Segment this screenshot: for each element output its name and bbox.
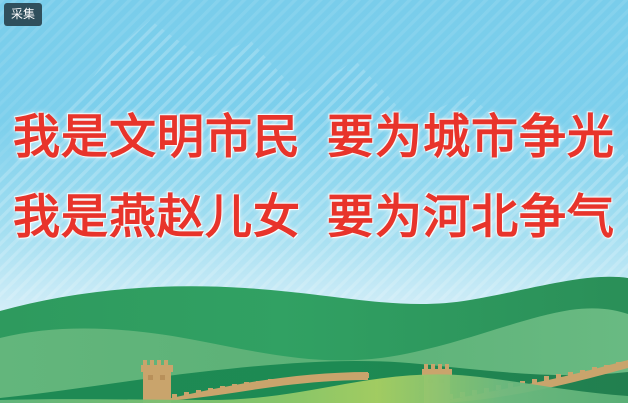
slogan-line-1: 我是文明市民要为城市争光 — [0, 98, 628, 167]
poster-image: 我是文明市民要为城市争光 我是燕赵儿女要为河北争气 采集 — [0, 0, 628, 403]
slogan-line-1-right: 要为城市争光 — [327, 110, 615, 163]
slogan-line-2: 我是燕赵儿女要为河北争气 — [0, 178, 628, 247]
slogan-line-2-right: 要为河北争气 — [327, 190, 615, 243]
slogan-line-1-left: 我是文明市民 — [13, 110, 301, 163]
slogan-line-2-left: 我是燕赵儿女 — [13, 190, 301, 243]
capture-button[interactable]: 采集 — [4, 3, 42, 26]
